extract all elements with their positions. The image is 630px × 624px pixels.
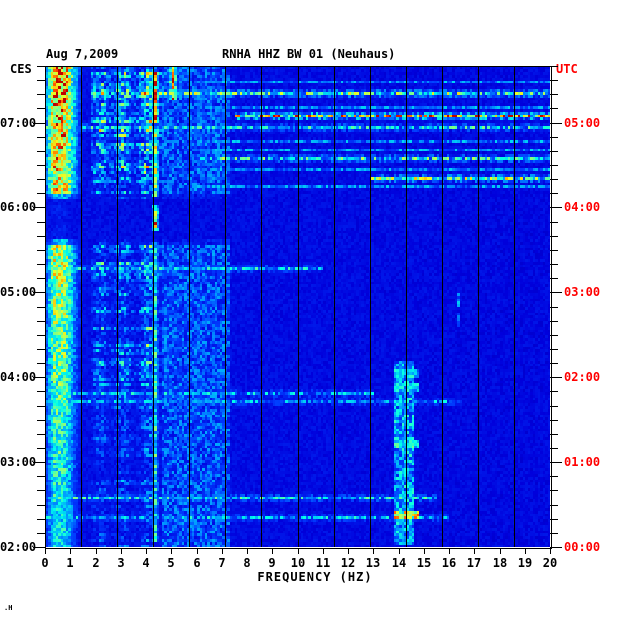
right-axis-tick-label: 00:00 — [564, 540, 600, 554]
left-axis-tick — [37, 137, 45, 138]
x-axis-title: FREQUENCY (HZ) — [0, 570, 630, 584]
right-axis-tick — [550, 292, 562, 293]
x-axis-tick — [121, 548, 122, 554]
x-axis-tick-label: 4 — [136, 556, 156, 570]
x-axis-tick-label: 19 — [515, 556, 535, 570]
right-axis-tick — [550, 193, 558, 194]
right-axis-tick — [550, 278, 558, 279]
right-axis-tick — [550, 264, 558, 265]
left-axis-tick — [37, 519, 45, 520]
right-axis-tick-label: 04:00 — [564, 200, 600, 214]
left-axis-tick — [37, 222, 45, 223]
x-axis-tick — [171, 548, 172, 554]
right-axis-tick-label: 05:00 — [564, 116, 600, 130]
right-axis-tick — [550, 533, 558, 534]
right-axis-tick — [550, 66, 558, 67]
left-axis-tick-label: 02:00 — [0, 540, 31, 554]
left-axis-tick — [37, 533, 45, 534]
left-axis-tick-label: 05:00 — [0, 285, 31, 299]
x-axis-tick — [272, 548, 273, 554]
x-axis-tick — [449, 548, 450, 554]
left-axis-tick-label: 03:00 — [0, 455, 31, 469]
x-axis-tick-label: 12 — [338, 556, 358, 570]
right-axis-tick — [550, 490, 558, 491]
right-axis-tick — [550, 207, 562, 208]
right-axis-tick — [550, 448, 558, 449]
right-axis-tick — [550, 363, 558, 364]
x-axis-tick — [550, 548, 551, 554]
x-axis-tick — [222, 548, 223, 554]
x-axis-tick-label: 18 — [490, 556, 510, 570]
right-axis-tick — [550, 321, 558, 322]
x-axis-tick-label: 14 — [389, 556, 409, 570]
x-axis-tick-label: 5 — [161, 556, 181, 570]
right-axis-tick — [550, 476, 558, 477]
left-axis-tick — [37, 406, 45, 407]
left-axis-tick — [37, 66, 45, 67]
x-axis-tick-label: 2 — [86, 556, 106, 570]
left-axis-tick — [37, 80, 45, 81]
right-axis-tick — [550, 250, 558, 251]
spectrogram-plot — [45, 66, 550, 547]
x-axis-tick — [348, 548, 349, 554]
x-axis-tick — [323, 548, 324, 554]
right-axis-tick — [550, 505, 558, 506]
left-axis-tick — [37, 434, 45, 435]
left-axis-tick — [37, 193, 45, 194]
right-axis-tick — [550, 434, 558, 435]
left-axis-label: CES — [10, 62, 32, 76]
left-axis-tick-label: 07:00 — [0, 116, 31, 130]
spectrogram-page: Aug 7,2009 RNHA HHZ BW 01 (Neuhaus) CES … — [0, 0, 630, 624]
left-axis-tick — [37, 278, 45, 279]
x-axis-tick — [45, 548, 46, 554]
x-axis-tick — [500, 548, 501, 554]
left-axis-tick — [37, 307, 45, 308]
x-axis-tick — [146, 548, 147, 554]
left-axis-tick — [37, 321, 45, 322]
x-axis-tick-label: 20 — [540, 556, 560, 570]
right-axis-tick — [550, 108, 558, 109]
right-axis-tick — [550, 462, 562, 463]
date-label: Aug 7,2009 — [46, 47, 118, 61]
left-axis-tick — [37, 94, 45, 95]
x-axis-tick — [373, 548, 374, 554]
right-axis-tick — [550, 307, 558, 308]
x-axis-tick-label: 3 — [111, 556, 131, 570]
right-axis-tick — [550, 165, 558, 166]
left-axis-tick — [37, 250, 45, 251]
x-axis-tick — [96, 548, 97, 554]
x-axis-tick-label: 6 — [187, 556, 207, 570]
left-axis-tick-label: 04:00 — [0, 370, 31, 384]
x-axis-tick-label: 16 — [439, 556, 459, 570]
right-axis-tick-label: 01:00 — [564, 455, 600, 469]
x-axis-tick-label: 15 — [414, 556, 434, 570]
right-axis-tick — [550, 519, 558, 520]
right-axis-tick — [550, 377, 562, 378]
right-axis-tick — [550, 222, 558, 223]
right-axis-label: UTC — [556, 62, 578, 76]
x-axis-tick — [247, 548, 248, 554]
x-axis-tick-label: 1 — [60, 556, 80, 570]
x-axis-tick-label: 17 — [464, 556, 484, 570]
x-axis-tick-label: 9 — [262, 556, 282, 570]
right-axis-tick — [550, 236, 558, 237]
right-axis-tick — [550, 80, 558, 81]
right-axis-tick — [550, 335, 558, 336]
x-axis-tick — [70, 548, 71, 554]
left-axis-tick — [37, 151, 45, 152]
left-axis-tick — [37, 349, 45, 350]
left-axis-tick — [37, 490, 45, 491]
left-axis-tick — [37, 448, 45, 449]
x-axis-tick — [197, 548, 198, 554]
right-axis-tick-label: 03:00 — [564, 285, 600, 299]
right-axis-tick — [550, 406, 558, 407]
right-axis-tick — [550, 420, 558, 421]
left-axis-tick — [37, 108, 45, 109]
x-axis-tick-label: 13 — [363, 556, 383, 570]
left-axis-tick — [37, 165, 45, 166]
right-axis-tick — [550, 94, 558, 95]
right-axis-tick — [550, 179, 558, 180]
x-axis-tick-label: 7 — [212, 556, 232, 570]
corner-artifact: .H — [4, 604, 12, 612]
x-axis-tick-label: 8 — [237, 556, 257, 570]
left-axis-tick — [37, 264, 45, 265]
x-axis-tick-label: 10 — [288, 556, 308, 570]
right-axis-tick-label: 02:00 — [564, 370, 600, 384]
right-axis-tick — [550, 123, 562, 124]
left-axis-tick — [37, 420, 45, 421]
left-axis-tick — [37, 363, 45, 364]
right-axis-tick — [550, 137, 558, 138]
left-axis-tick — [37, 476, 45, 477]
x-axis-tick — [424, 548, 425, 554]
spectrogram-canvas — [45, 66, 550, 547]
x-axis-tick — [474, 548, 475, 554]
left-axis-tick-label: 06:00 — [0, 200, 31, 214]
x-axis-tick — [399, 548, 400, 554]
page-title: RNHA HHZ BW 01 (Neuhaus) — [222, 47, 395, 61]
x-axis-tick-label: 0 — [35, 556, 55, 570]
x-axis-tick-label: 11 — [313, 556, 333, 570]
x-axis-tick — [525, 548, 526, 554]
left-axis-tick — [37, 236, 45, 237]
right-axis-tick — [550, 151, 558, 152]
right-axis-tick — [550, 391, 558, 392]
left-axis-tick — [37, 335, 45, 336]
x-axis-tick — [298, 548, 299, 554]
right-axis-tick — [550, 349, 558, 350]
right-axis-tick — [550, 547, 562, 548]
left-axis-tick — [37, 179, 45, 180]
left-axis-tick — [37, 505, 45, 506]
left-axis-tick — [37, 391, 45, 392]
